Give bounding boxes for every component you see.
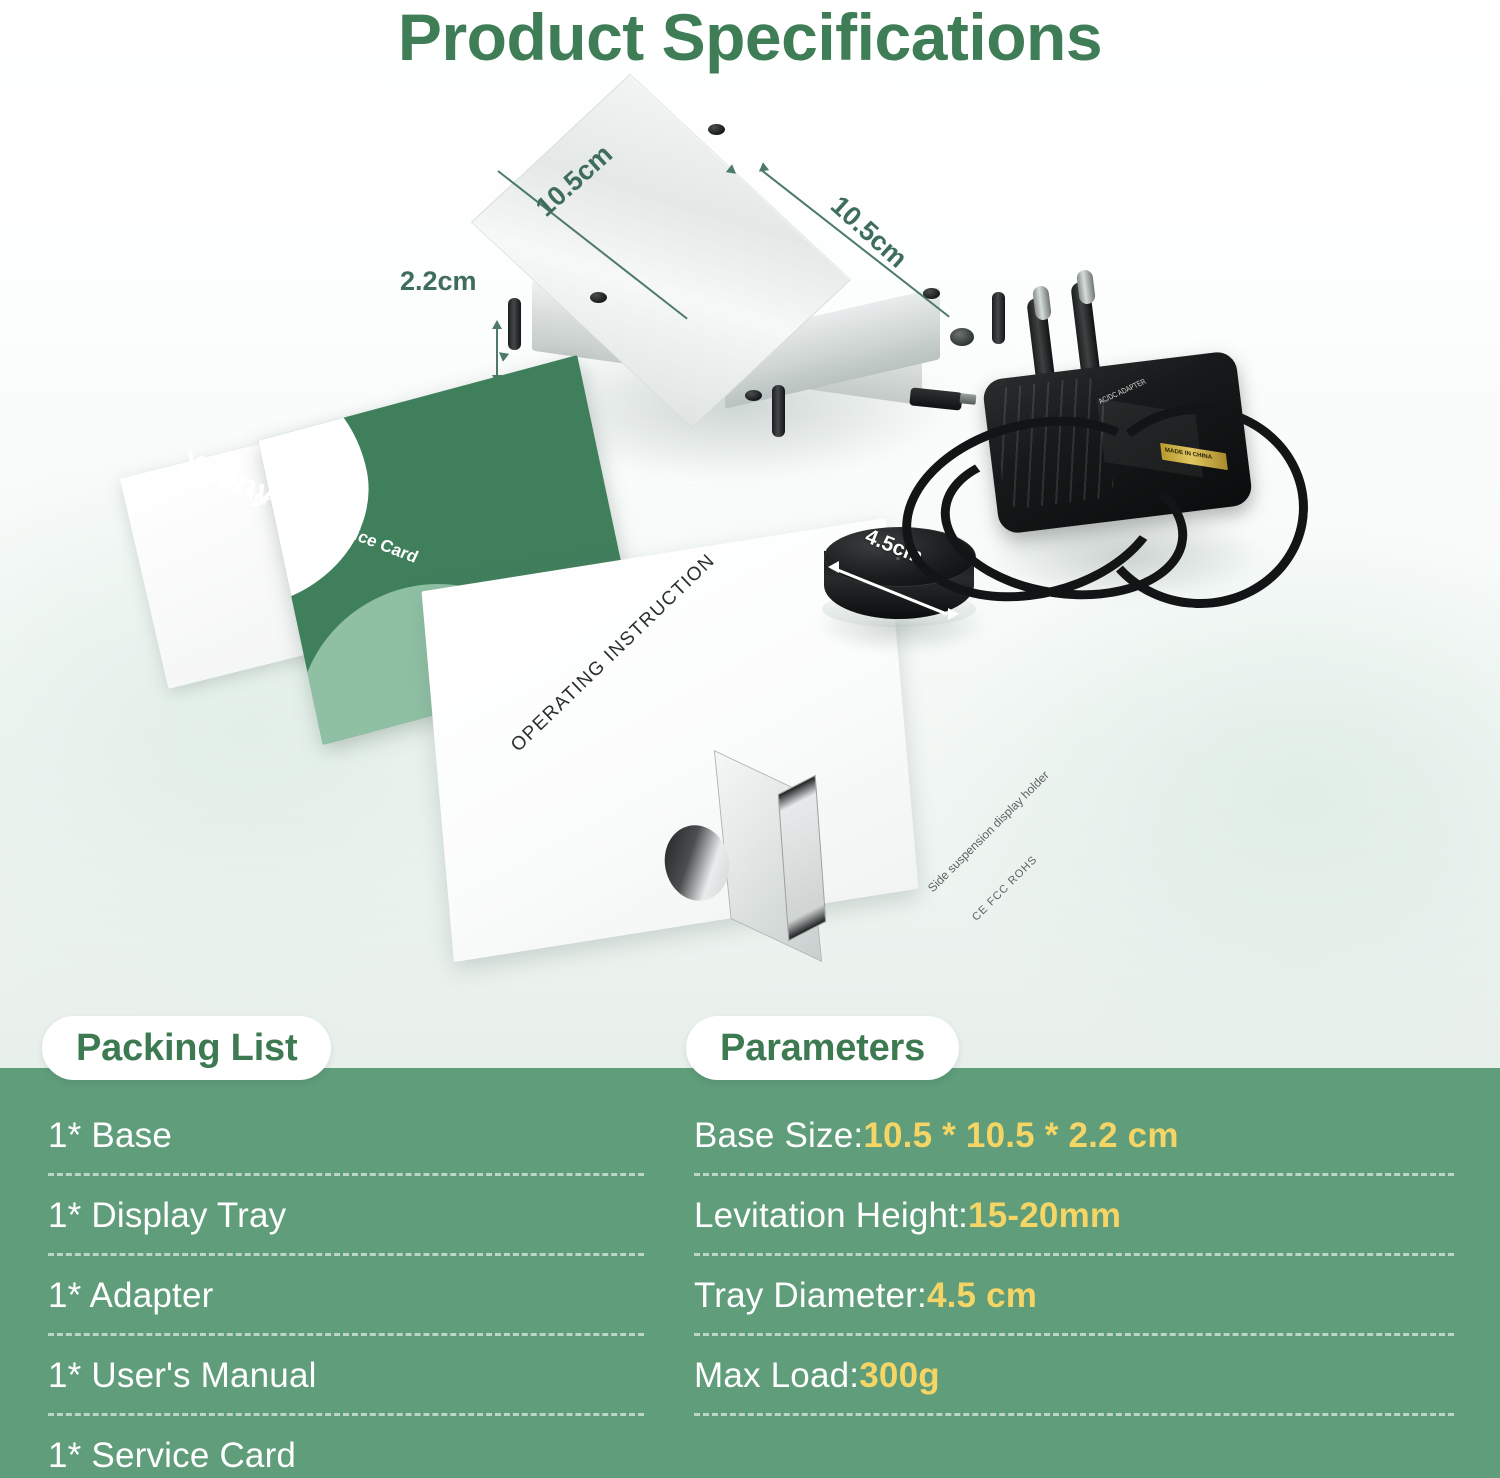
base-screw	[708, 124, 725, 135]
packing-item-label: 1* User's Manual	[48, 1356, 317, 1396]
parameter-row: Tray Diameter: 4.5 cm	[694, 1256, 1454, 1336]
power-adapter: AC/DC ADAPTER MADE IN CHINA	[880, 220, 1360, 780]
parameters-heading-pill: Parameters	[686, 1016, 959, 1080]
parameter-row: Levitation Height: 15-20mm	[694, 1176, 1454, 1256]
base-foot	[772, 385, 785, 437]
parameters-heading: Parameters	[720, 1027, 925, 1070]
adapter-dc-plug	[909, 387, 963, 410]
parameter-row: Max Load: 300g	[694, 1336, 1454, 1416]
parameter-value: 10.5 * 10.5 * 2.2 cm	[863, 1116, 1178, 1156]
specifications-panel: Packing List Parameters 1* Base 1* Displ…	[0, 1068, 1500, 1478]
packing-list-item: 1* Base	[48, 1096, 644, 1176]
packing-list-item: 1* Adapter	[48, 1256, 644, 1336]
parameters-column: Base Size: 10.5 * 10.5 * 2.2 cm Levitati…	[694, 1096, 1454, 1478]
parameter-label: Tray Diameter:	[694, 1276, 927, 1316]
packing-item-label: 1* Display Tray	[48, 1196, 286, 1236]
parameter-label: Base Size:	[694, 1116, 863, 1156]
parameter-row: Base Size: 10.5 * 10.5 * 2.2 cm	[694, 1096, 1454, 1176]
base-screw	[745, 390, 762, 401]
base-screw	[590, 292, 607, 303]
packing-list-heading-pill: Packing List	[42, 1016, 331, 1080]
parameter-label: Max Load:	[694, 1356, 859, 1396]
packing-list-column: 1* Base 1* Display Tray 1* Adapter 1* Us…	[48, 1096, 644, 1478]
parameter-row-empty	[694, 1416, 1454, 1478]
parameter-value: 15-20mm	[968, 1196, 1121, 1236]
packing-item-label: 1* Service Card	[48, 1436, 296, 1476]
parameter-value: 4.5 cm	[927, 1276, 1037, 1316]
dimension-arrow	[492, 320, 502, 329]
product-photo: 10.5cm 10.5cm 2.2cm Xuanyu After Sales S…	[0, 70, 1500, 1030]
parameter-value: 300g	[859, 1356, 940, 1396]
base-foot	[508, 298, 521, 350]
packing-item-label: 1* Base	[48, 1116, 172, 1156]
packing-list-heading: Packing List	[76, 1027, 297, 1070]
adapter-dc-tip	[960, 393, 977, 405]
packing-list-item: 1* Service Card	[48, 1416, 644, 1478]
parameter-label: Levitation Height:	[694, 1196, 968, 1236]
adapter-prong-tip	[1032, 285, 1052, 321]
packing-list-item: 1* Display Tray	[48, 1176, 644, 1256]
packing-item-label: 1* Adapter	[48, 1276, 213, 1316]
packing-list-item: 1* User's Manual	[48, 1336, 644, 1416]
dimension-label-height: 2.2cm	[400, 266, 477, 297]
dimension-arrow	[828, 561, 839, 573]
adapter-prong-tip	[1076, 269, 1096, 305]
product-specification-page: Product Specifications 10.5cm 10.5cm	[0, 0, 1500, 1478]
page-title: Product Specifications	[0, 2, 1500, 73]
